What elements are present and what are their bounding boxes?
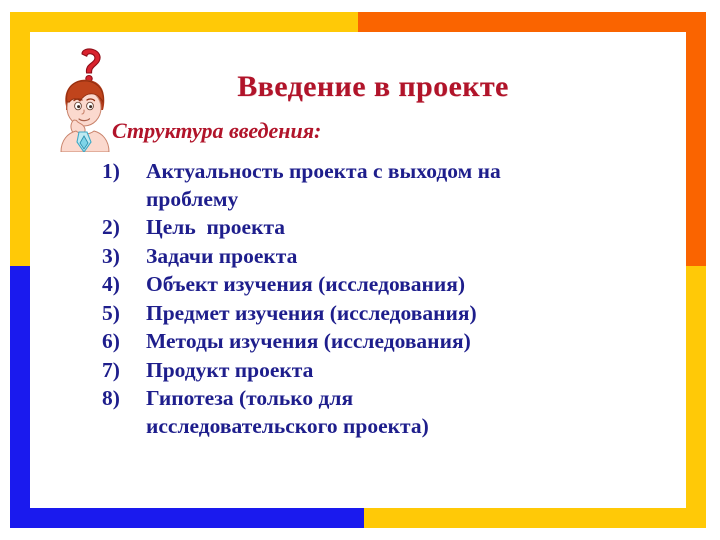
list-item: 7) Продукт проекта xyxy=(102,357,702,385)
list-item: 6) Методы изучения (исследования) xyxy=(102,328,702,356)
list-item-number: 4) xyxy=(102,271,146,299)
list-item-text: Продукт проекта xyxy=(146,357,702,385)
list-item: 8) Гипотеза (только для исследовательско… xyxy=(102,385,702,440)
slide-subtitle: Структура введения: xyxy=(112,118,321,144)
list-item: 4) Объект изучения (исследования) xyxy=(102,271,702,299)
list-item-number: 2) xyxy=(102,214,146,242)
frame-border-bottom-right xyxy=(362,508,706,528)
list-item-number: 6) xyxy=(102,328,146,356)
slide-content-area: Введение в проекте Структура введения: 1… xyxy=(30,32,686,508)
frame-border-top-left xyxy=(10,12,360,32)
list-item-number: 8) xyxy=(102,385,146,413)
frame-border-top-right xyxy=(358,12,706,32)
list-item-number: 3) xyxy=(102,243,146,271)
frame-border-bottom-left xyxy=(10,508,364,528)
list-item-text: Гипотеза (только для исследовательского … xyxy=(146,385,702,440)
frame-border-left-top xyxy=(10,12,30,266)
list-item: 5) Предмет изучения (исследования) xyxy=(102,300,702,328)
list-item-text: Цель проекта xyxy=(146,214,702,242)
list-item-text: Задачи проекта xyxy=(146,243,702,271)
slide-canvas: Введение в проекте Структура введения: 1… xyxy=(0,0,720,540)
list-item: 1) Актуальность проекта с выходом на про… xyxy=(102,158,702,213)
structure-list: 1) Актуальность проекта с выходом на про… xyxy=(102,158,702,441)
list-item-number: 7) xyxy=(102,357,146,385)
list-item-text: Методы изучения (исследования) xyxy=(146,328,702,356)
list-item: 3) Задачи проекта xyxy=(102,243,702,271)
list-item-number: 1) xyxy=(102,158,146,186)
frame-border-left-bottom xyxy=(10,262,30,528)
list-item-text: Объект изучения (исследования) xyxy=(146,271,702,299)
list-item-text: Актуальность проекта с выходом на пробле… xyxy=(146,158,702,213)
list-item-number: 5) xyxy=(102,300,146,328)
slide-title: Введение в проекте xyxy=(30,70,716,104)
list-item: 2) Цель проекта xyxy=(102,214,702,242)
list-item-text: Предмет изучения (исследования) xyxy=(146,300,702,328)
